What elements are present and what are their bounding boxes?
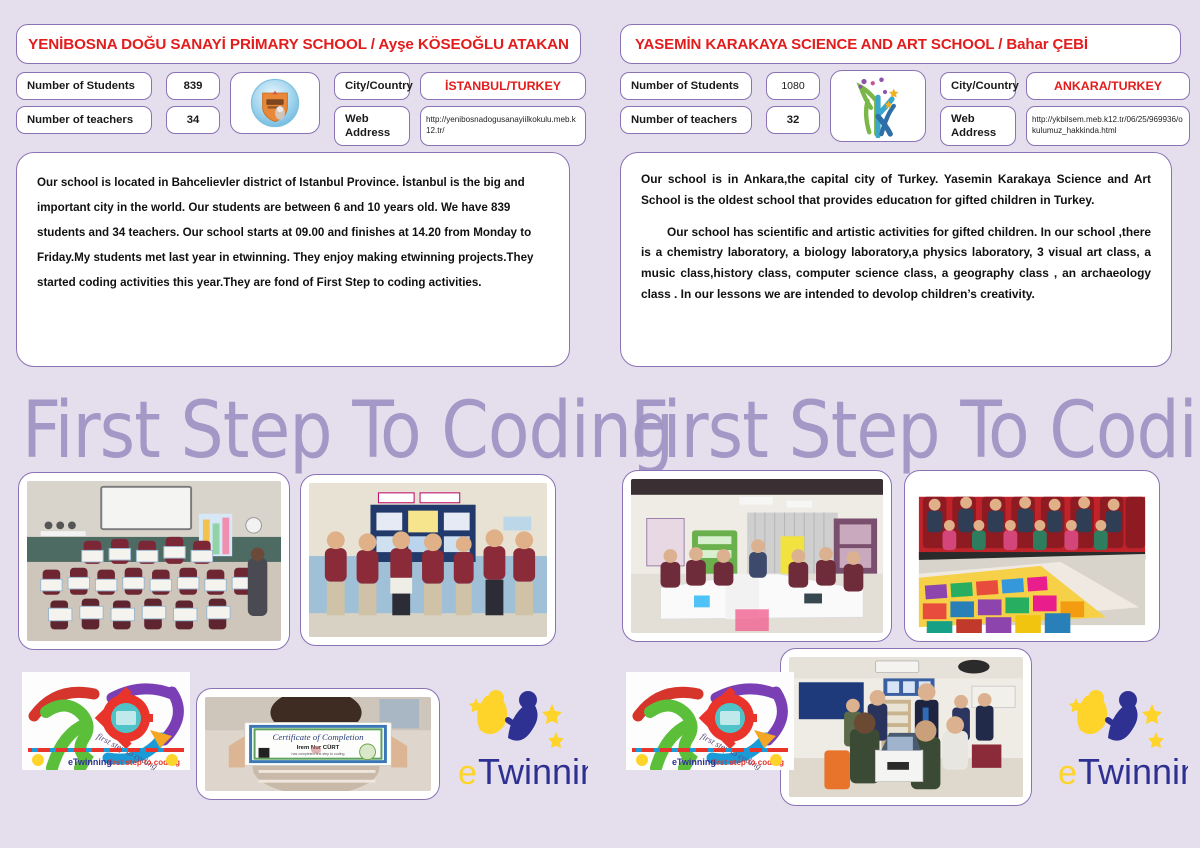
svg-text:e: e xyxy=(458,754,477,792)
svg-text:e: e xyxy=(1058,754,1077,792)
photo-classroom-students-at-desks xyxy=(622,470,892,642)
photo-coding-lesson-with-visitors xyxy=(780,648,1032,806)
yenibosna-school-crest-logo xyxy=(230,72,320,134)
school-description-left: Our school is located in Bahcelievler di… xyxy=(16,152,570,367)
svg-text:Certificate of Completion: Certificate of Completion xyxy=(272,732,364,742)
school-title-right: YASEMİN KARAKAYA SCIENCE AND ART SCHOOL … xyxy=(635,36,1088,53)
watermark-first-step-to-coding-left: First Step To Coding xyxy=(22,392,673,470)
photo-student-holding-certificate: Certificate of Completion Irem Nur CÜRT … xyxy=(196,688,440,800)
etwinning-logo: e Twinning xyxy=(1052,690,1188,796)
description-paragraph: Our school is located in Bahcelievler di… xyxy=(37,171,549,296)
photo-students-thumbs-up-bulletin-board xyxy=(300,474,556,646)
students-value-right: 1080 xyxy=(766,72,820,100)
students-value-left: 839 xyxy=(166,72,220,100)
description-paragraph: Our school has scientific and artistic a… xyxy=(641,222,1151,305)
svg-text:Twinning: Twinning xyxy=(1078,751,1188,792)
svg-text:Twinning: Twinning xyxy=(478,751,588,792)
students-label-right: Number of Students xyxy=(620,72,752,100)
school-info-row-left: Number of Students 839 Number of teacher… xyxy=(16,70,586,142)
watermark-first-step-to-coding-right: First Step To Coding xyxy=(630,392,1200,470)
svg-text:eTwinning: eTwinning xyxy=(68,757,112,767)
city-country-label-left: City/Country xyxy=(334,72,410,100)
yasemin-karakaya-k-flower-logo xyxy=(830,70,926,142)
web-address-label-right: Web Address xyxy=(940,106,1016,146)
city-country-label-right: City/Country xyxy=(940,72,1016,100)
students-label-left: Number of Students xyxy=(16,72,152,100)
city-country-value-right: ANKARA/TURKEY xyxy=(1026,72,1190,100)
etwinning-logo: e Twinning xyxy=(452,690,588,796)
teachers-label-left: Number of teachers xyxy=(16,106,152,134)
poster-page: YENİBOSNA DOĞU SANAYİ PRİMARY SCHOOL / A… xyxy=(0,0,1200,848)
web-address-value-right[interactable]: http://ykbilsem.meb.k12.tr/06/25/969936/… xyxy=(1026,106,1190,146)
svg-text:eTwinning: eTwinning xyxy=(672,757,716,767)
photo-class-group-with-certificates xyxy=(18,472,290,650)
panel-right-school: YASEMİN KARAKAYA SCIENCE AND ART SCHOOL … xyxy=(600,0,1200,848)
panel-left-school: YENİBOSNA DOĞU SANAYİ PRİMARY SCHOOL / A… xyxy=(0,0,600,848)
city-country-value-left: İSTANBUL/TURKEY xyxy=(420,72,586,100)
description-paragraph: Our school is in Ankara,the capital city… xyxy=(641,169,1151,211)
first-step-to-coding-logo: first step to coding eTwinning first ste… xyxy=(22,672,190,770)
school-description-right: Our school is in Ankara,the capital city… xyxy=(620,152,1172,367)
teachers-value-left: 34 xyxy=(166,106,220,134)
school-info-row-right: Number of Students 1080 Number of teache… xyxy=(620,70,1190,142)
photo-children-in-red-auditorium-seats xyxy=(904,470,1160,642)
school-title-bar-left: YENİBOSNA DOĞU SANAYİ PRİMARY SCHOOL / A… xyxy=(16,24,581,64)
teachers-value-right: 32 xyxy=(766,106,820,134)
school-title-left: YENİBOSNA DOĞU SANAYİ PRİMARY SCHOOL / A… xyxy=(28,36,569,53)
school-title-bar-right: YASEMİN KARAKAYA SCIENCE AND ART SCHOOL … xyxy=(620,24,1181,64)
web-address-label-left: Web Address xyxy=(334,106,410,146)
web-address-value-left[interactable]: http://yenibosnadogusanayiilkokulu.meb.k… xyxy=(420,106,586,146)
first-step-to-coding-logo: first step to coding eTwinning first ste… xyxy=(626,672,794,770)
teachers-label-right: Number of teachers xyxy=(620,106,752,134)
